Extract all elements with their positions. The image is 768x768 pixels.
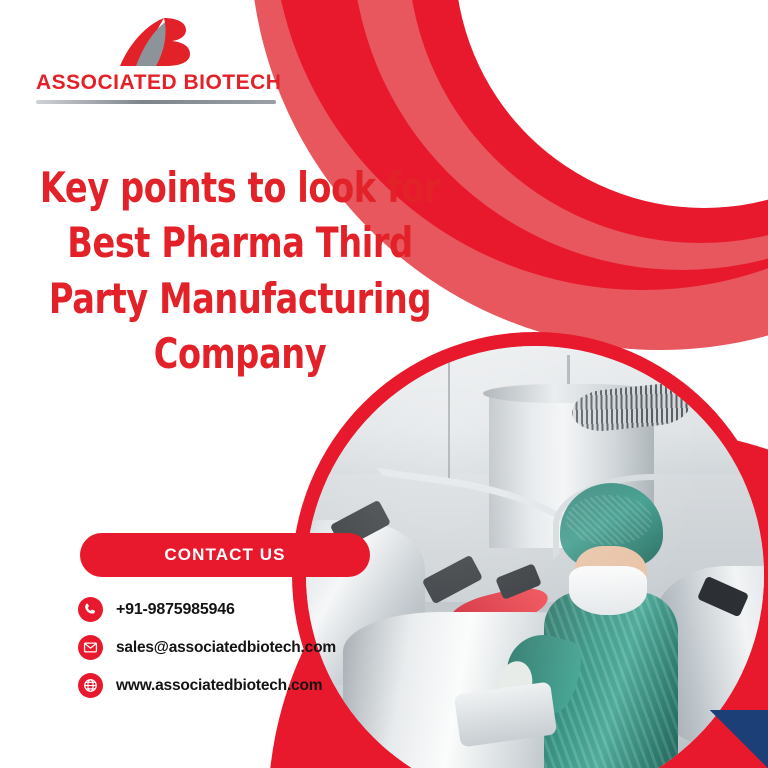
contact-row-email[interactable]: sales@associatedbiotech.com [78,635,408,660]
poster-canvas: ASSOCIATED BIOTECH Key points to look fo… [0,0,768,768]
headline-line-4: Company [34,326,446,381]
phone-number: +91-9875985946 [116,601,235,619]
contact-details: +91-9875985946 sales@associatedbiotech.c… [78,597,408,711]
phone-icon [78,597,103,622]
headline-line-2: Best Pharma Third [34,215,446,270]
brand-logo: ASSOCIATED BIOTECH [36,14,276,104]
ab-monogram-icon [36,14,276,72]
globe-icon [78,673,103,698]
logo-underline-bar [36,100,276,104]
headline-line-1: Key points to look for [34,160,446,215]
website-url: www.associatedbiotech.com [116,677,322,695]
headline-line-3: Party Manufacturing [34,271,446,326]
contact-us-button[interactable]: CONTACT US [80,533,370,577]
contact-row-website[interactable]: www.associatedbiotech.com [78,673,408,698]
contact-row-phone[interactable]: +91-9875985946 [78,597,408,622]
page-title: Key points to look for Best Pharma Third… [34,160,446,382]
decorative-navy-corner [710,710,768,768]
email-address: sales@associatedbiotech.com [116,639,336,657]
logo-wordmark: ASSOCIATED BIOTECH [36,72,276,93]
envelope-icon [78,635,103,660]
